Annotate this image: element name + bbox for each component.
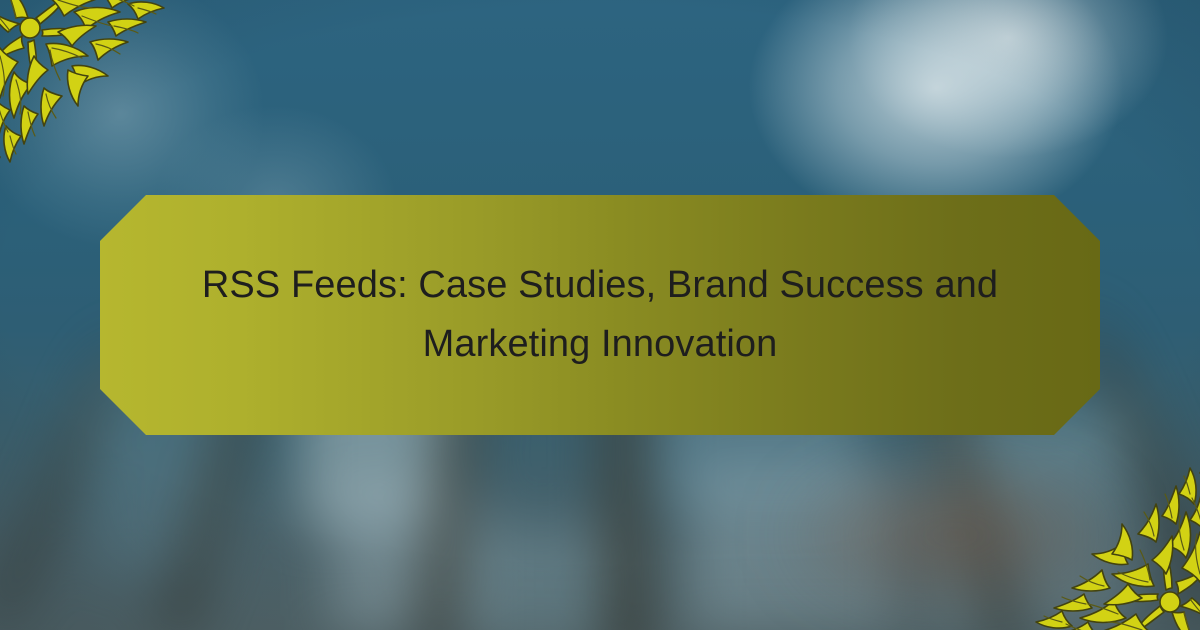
social-share-card: RSS Feeds: Case Studies, Brand Success a… [0,0,1200,630]
page-title: RSS Feeds: Case Studies, Brand Success a… [140,256,1060,374]
title-banner: RSS Feeds: Case Studies, Brand Success a… [100,195,1100,435]
